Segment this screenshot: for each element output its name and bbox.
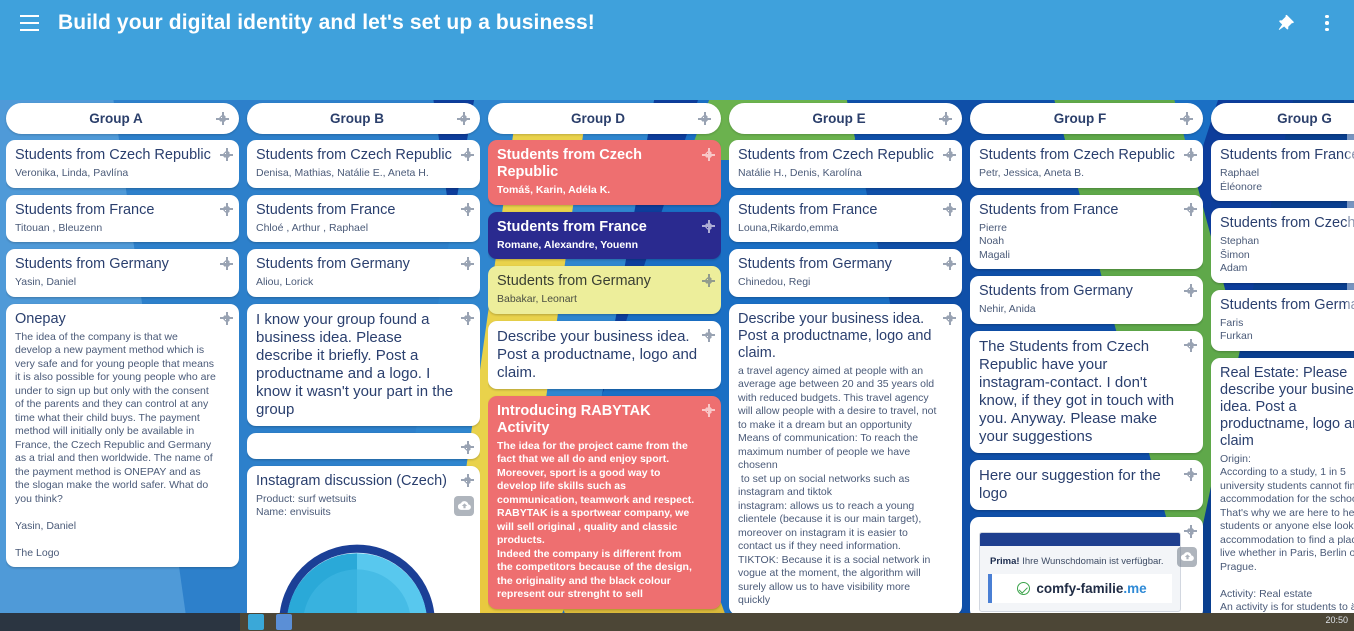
board-card[interactable]: OnepayThe idea of the company is that we… [6,304,239,568]
board-card[interactable]: Students from GermanyChinedou, Regi [729,249,962,297]
board-card[interactable]: The Students from Czech Republic have yo… [970,331,1203,453]
card-body: Product: surf wetsuits Name: envisuits [256,493,458,520]
move-handle-icon[interactable] [461,474,474,487]
column-title: Group B [257,111,457,126]
card-title: Here our suggestion for the logo [979,467,1181,503]
card-title: Students from France [15,202,217,219]
pin-icon[interactable] [1272,10,1298,36]
card-body: Petr, Jessica, Aneta B. [979,167,1181,181]
move-handle-icon[interactable] [702,220,715,233]
domain-result-box: comfy-familie.me [988,574,1172,603]
card-body: Romane, Alexandre, Youenn [497,239,699,253]
card-title: Real Estate: Please describe your busine… [1220,365,1354,450]
card-body: Natálie H., Denis, Karolína [738,167,940,181]
card-attachment-screenshot[interactable]: Prima! Ihre Wunschdomain ist verfügbar.c… [979,532,1181,612]
domain-message-rest: Ihre Wunschdomain ist verfügbar. [1020,556,1164,567]
move-handle-icon[interactable] [1184,468,1197,481]
app-header: Build your digital identity and let's se… [0,0,1354,100]
move-handle-icon[interactable] [220,312,233,325]
card-body: The idea for the project came from the f… [497,440,699,602]
move-handle-icon[interactable] [702,329,715,342]
hamburger-menu-icon[interactable] [14,8,44,38]
card-body: Veronika, Linda, Pavlína [15,167,217,181]
card-body: Yasin, Daniel [15,276,217,290]
board-column: Group BStudents from Czech RepublicDenis… [247,100,480,613]
card-body: a travel agency aimed at people with an … [738,365,940,608]
board-card[interactable]: I know your group found a business idea.… [247,304,480,426]
board-card[interactable]: Students from Czech RepublicPetr, Jessic… [970,140,1203,188]
card-title: Students from Germany [15,256,217,273]
column-header[interactable]: Group E [729,103,962,134]
column-title: Group G [1221,111,1354,126]
padlet-board-app: Build your digital identity and let's se… [0,0,1354,631]
column-title: Group F [980,111,1180,126]
card-title: I know your group found a business idea.… [256,311,458,419]
cloud-upload-icon[interactable] [1177,547,1197,567]
vertical-scrollbar[interactable] [1347,118,1354,348]
move-handle-icon[interactable] [220,203,233,216]
card-body: Tomáš, Karin, Adéla K. [497,184,699,198]
card-title: Students from Germany [256,256,458,273]
card-body: Louna,Rikardo,emma [738,222,940,236]
board-card[interactable]: Real Estate: Please describe your busine… [1211,358,1354,614]
domain-message-bold: Prima! [990,556,1020,567]
check-circle-icon [1017,582,1030,595]
board-card[interactable]: Prima! Ihre Wunschdomain ist verfügbar.c… [970,517,1203,614]
card-title: Students from Germany [979,283,1181,300]
board-card[interactable]: Students from FrancePierre Noah Magali [970,195,1203,270]
move-handle-icon[interactable] [943,148,956,161]
board-card[interactable]: Students from GermanyAliou, Lorick [247,249,480,297]
move-handle-icon[interactable] [220,148,233,161]
move-handle-icon[interactable] [457,112,470,125]
card-title: Students from Czech Republic [979,147,1181,164]
move-handle-icon[interactable] [461,257,474,270]
card-title: Describe your business idea. Post a prod… [497,328,699,382]
header-actions [1272,10,1340,36]
card-body: Chloé , Arthur , Raphael [256,222,458,236]
card-body: Faris Furkan [1220,317,1354,344]
card-body: Denisa, Mathias, Natálie E., Aneta H. [256,167,458,181]
column-title: Group E [739,111,939,126]
board-card[interactable]: Instagram discussion (Czech)Product: sur… [247,466,480,614]
card-title: Students from Czech Republic [256,147,458,164]
card-title: Students from Czech Republic [15,147,217,164]
card-title: Students from Germany [738,256,940,273]
move-handle-icon[interactable] [1184,148,1197,161]
card-title: The Students from Czech Republic have yo… [979,338,1181,446]
move-handle-icon[interactable] [943,257,956,270]
cloud-upload-icon[interactable] [454,496,474,516]
card-body: Aliou, Lorick [256,276,458,290]
move-handle-icon[interactable] [461,148,474,161]
board-card[interactable]: Students from GermanyFaris Furkan [1211,290,1354,351]
card-title: Students from France [497,219,699,236]
card-title: Students from France [738,202,940,219]
board-card[interactable]: Here our suggestion for the logo [970,460,1203,510]
column-header[interactable]: Group D [488,103,721,134]
board-card[interactable]: Students from FranceLouna,Rikardo,emma [729,195,962,243]
card-body: Origin: According to a study, 1 in 5 uni… [1220,453,1354,614]
card-title: Describe your business idea. Post a prod… [738,311,940,362]
board-card[interactable]: Students from FranceRaphael Éléonore [1211,140,1354,201]
page-title: Build your digital identity and let's se… [58,6,595,40]
card-body: Pierre Noah Magali [979,222,1181,263]
card-title: Students from Germany [1220,297,1354,314]
move-handle-icon[interactable] [702,148,715,161]
move-handle-icon[interactable] [1184,284,1197,297]
column-header[interactable]: Group A [6,103,239,134]
board-card[interactable]: Students from Czech RepublicDenisa, Math… [247,140,480,188]
board-card[interactable]: Students from CzechStephan Šimon Adam [1211,208,1354,283]
card-title: Students from Czech [1220,215,1354,232]
move-handle-icon[interactable] [1184,339,1197,352]
card-body: The idea of the company is that we devel… [15,331,217,561]
taskbar-app-icon[interactable] [276,614,292,630]
column-header[interactable]: Group B [247,103,480,134]
board-card[interactable]: Introducing RABYTAK ActivityThe idea for… [488,396,721,609]
card-body: Raphael Éléonore [1220,167,1354,194]
move-handle-icon[interactable] [943,203,956,216]
taskbar-right: 20:50 [240,613,1354,631]
card-body: Babakar, Leonart [497,293,699,307]
board-card[interactable]: Students from FranceRomane, Alexandre, Y… [488,212,721,260]
move-handle-icon[interactable] [698,112,711,125]
os-taskbar: 20:50 [0,613,1354,631]
card-title: Students from Czech Republic [738,147,940,164]
move-handle-icon[interactable] [702,404,715,417]
board-card[interactable]: Students from GermanyNehir, Anida [970,276,1203,324]
move-handle-icon[interactable] [943,312,956,325]
move-handle-icon[interactable] [461,441,474,454]
column-card-list: Students from Czech RepublicDenisa, Math… [247,140,480,613]
card-title: Students from Germany [497,273,699,290]
move-handle-icon[interactable] [939,112,952,125]
move-handle-icon[interactable] [461,203,474,216]
domain-name: comfy-familie [1036,581,1123,596]
move-handle-icon[interactable] [1184,525,1197,538]
column-card-list: Students from Czech RepublicTomáš, Karin… [488,140,721,613]
domain-tld: .me [1123,581,1146,596]
card-title: Students from France [979,202,1181,219]
column-card-list: Students from Czech RepublicNatálie H., … [729,140,962,613]
board-column: Group EStudents from Czech RepublicNatál… [729,100,962,613]
board-card[interactable]: Students from FranceChloé , Arthur , Rap… [247,195,480,243]
card-body: Nehir, Anida [979,303,1181,317]
move-handle-icon[interactable] [1180,112,1193,125]
kebab-menu-icon[interactable] [1314,10,1340,36]
taskbar-left [0,613,240,631]
column-header[interactable]: Group F [970,103,1203,134]
card-body: Chinedou, Regi [738,276,940,290]
card-title: Students from France [256,202,458,219]
board-column: Group DStudents from Czech RepublicTomáš… [488,100,721,613]
board-column: Group AStudents from Czech RepublicVeron… [6,100,239,613]
card-body: Stephan Šimon Adam [1220,235,1354,276]
domain-available-message: Prima! Ihre Wunschdomain ist verfügbar. [980,546,1180,571]
move-handle-icon[interactable] [461,312,474,325]
board-card[interactable]: Students from FranceTitouan , Bleuzenn [6,195,239,243]
column-card-list: Students from Czech RepublicVeronika, Li… [6,140,239,613]
card-title: Onepay [15,311,217,328]
board-card[interactable]: Describe your business idea. Post a prod… [488,321,721,389]
card-body: Titouan , Bleuzenn [15,222,217,236]
card-attachment-image[interactable] [256,528,458,614]
board-column: Group FStudents from Czech RepublicPetr,… [970,100,1203,613]
taskbar-app-icon[interactable] [248,614,264,630]
card-title: Instagram discussion (Czech) [256,473,458,490]
board-card[interactable]: Students from Czech RepublicNatálie H., … [729,140,962,188]
board-columns[interactable]: Group AStudents from Czech RepublicVeron… [0,100,1354,613]
move-handle-icon[interactable] [216,112,229,125]
card-title: Students from France [1220,147,1354,164]
move-handle-icon[interactable] [1184,203,1197,216]
column-title: Group D [498,111,698,126]
domain-full: comfy-familie.me [1036,581,1146,596]
board-card[interactable]: Students from GermanyBabakar, Leonart [488,266,721,314]
screenshot-browser-bar [980,533,1180,546]
column-header[interactable]: Group G [1211,103,1354,134]
board-card[interactable] [247,433,480,459]
column-card-list: Students from Czech RepublicPetr, Jessic… [970,140,1203,613]
column-card-list: Students from FranceRaphael ÉléonoreStud… [1211,140,1354,613]
taskbar-clock: 20:50 [1325,615,1348,625]
column-title: Group A [16,111,216,126]
move-handle-icon[interactable] [220,257,233,270]
board-card[interactable]: Students from GermanyYasin, Daniel [6,249,239,297]
card-title: Introducing RABYTAK Activity [497,403,699,437]
board-card[interactable]: Students from Czech RepublicVeronika, Li… [6,140,239,188]
board-card[interactable]: Students from Czech RepublicTomáš, Karin… [488,140,721,205]
move-handle-icon[interactable] [702,274,715,287]
board-card[interactable]: Describe your business idea. Post a prod… [729,304,962,614]
board-column: Group GStudents from FranceRaphael Éléon… [1211,100,1354,613]
card-title: Students from Czech Republic [497,147,699,181]
